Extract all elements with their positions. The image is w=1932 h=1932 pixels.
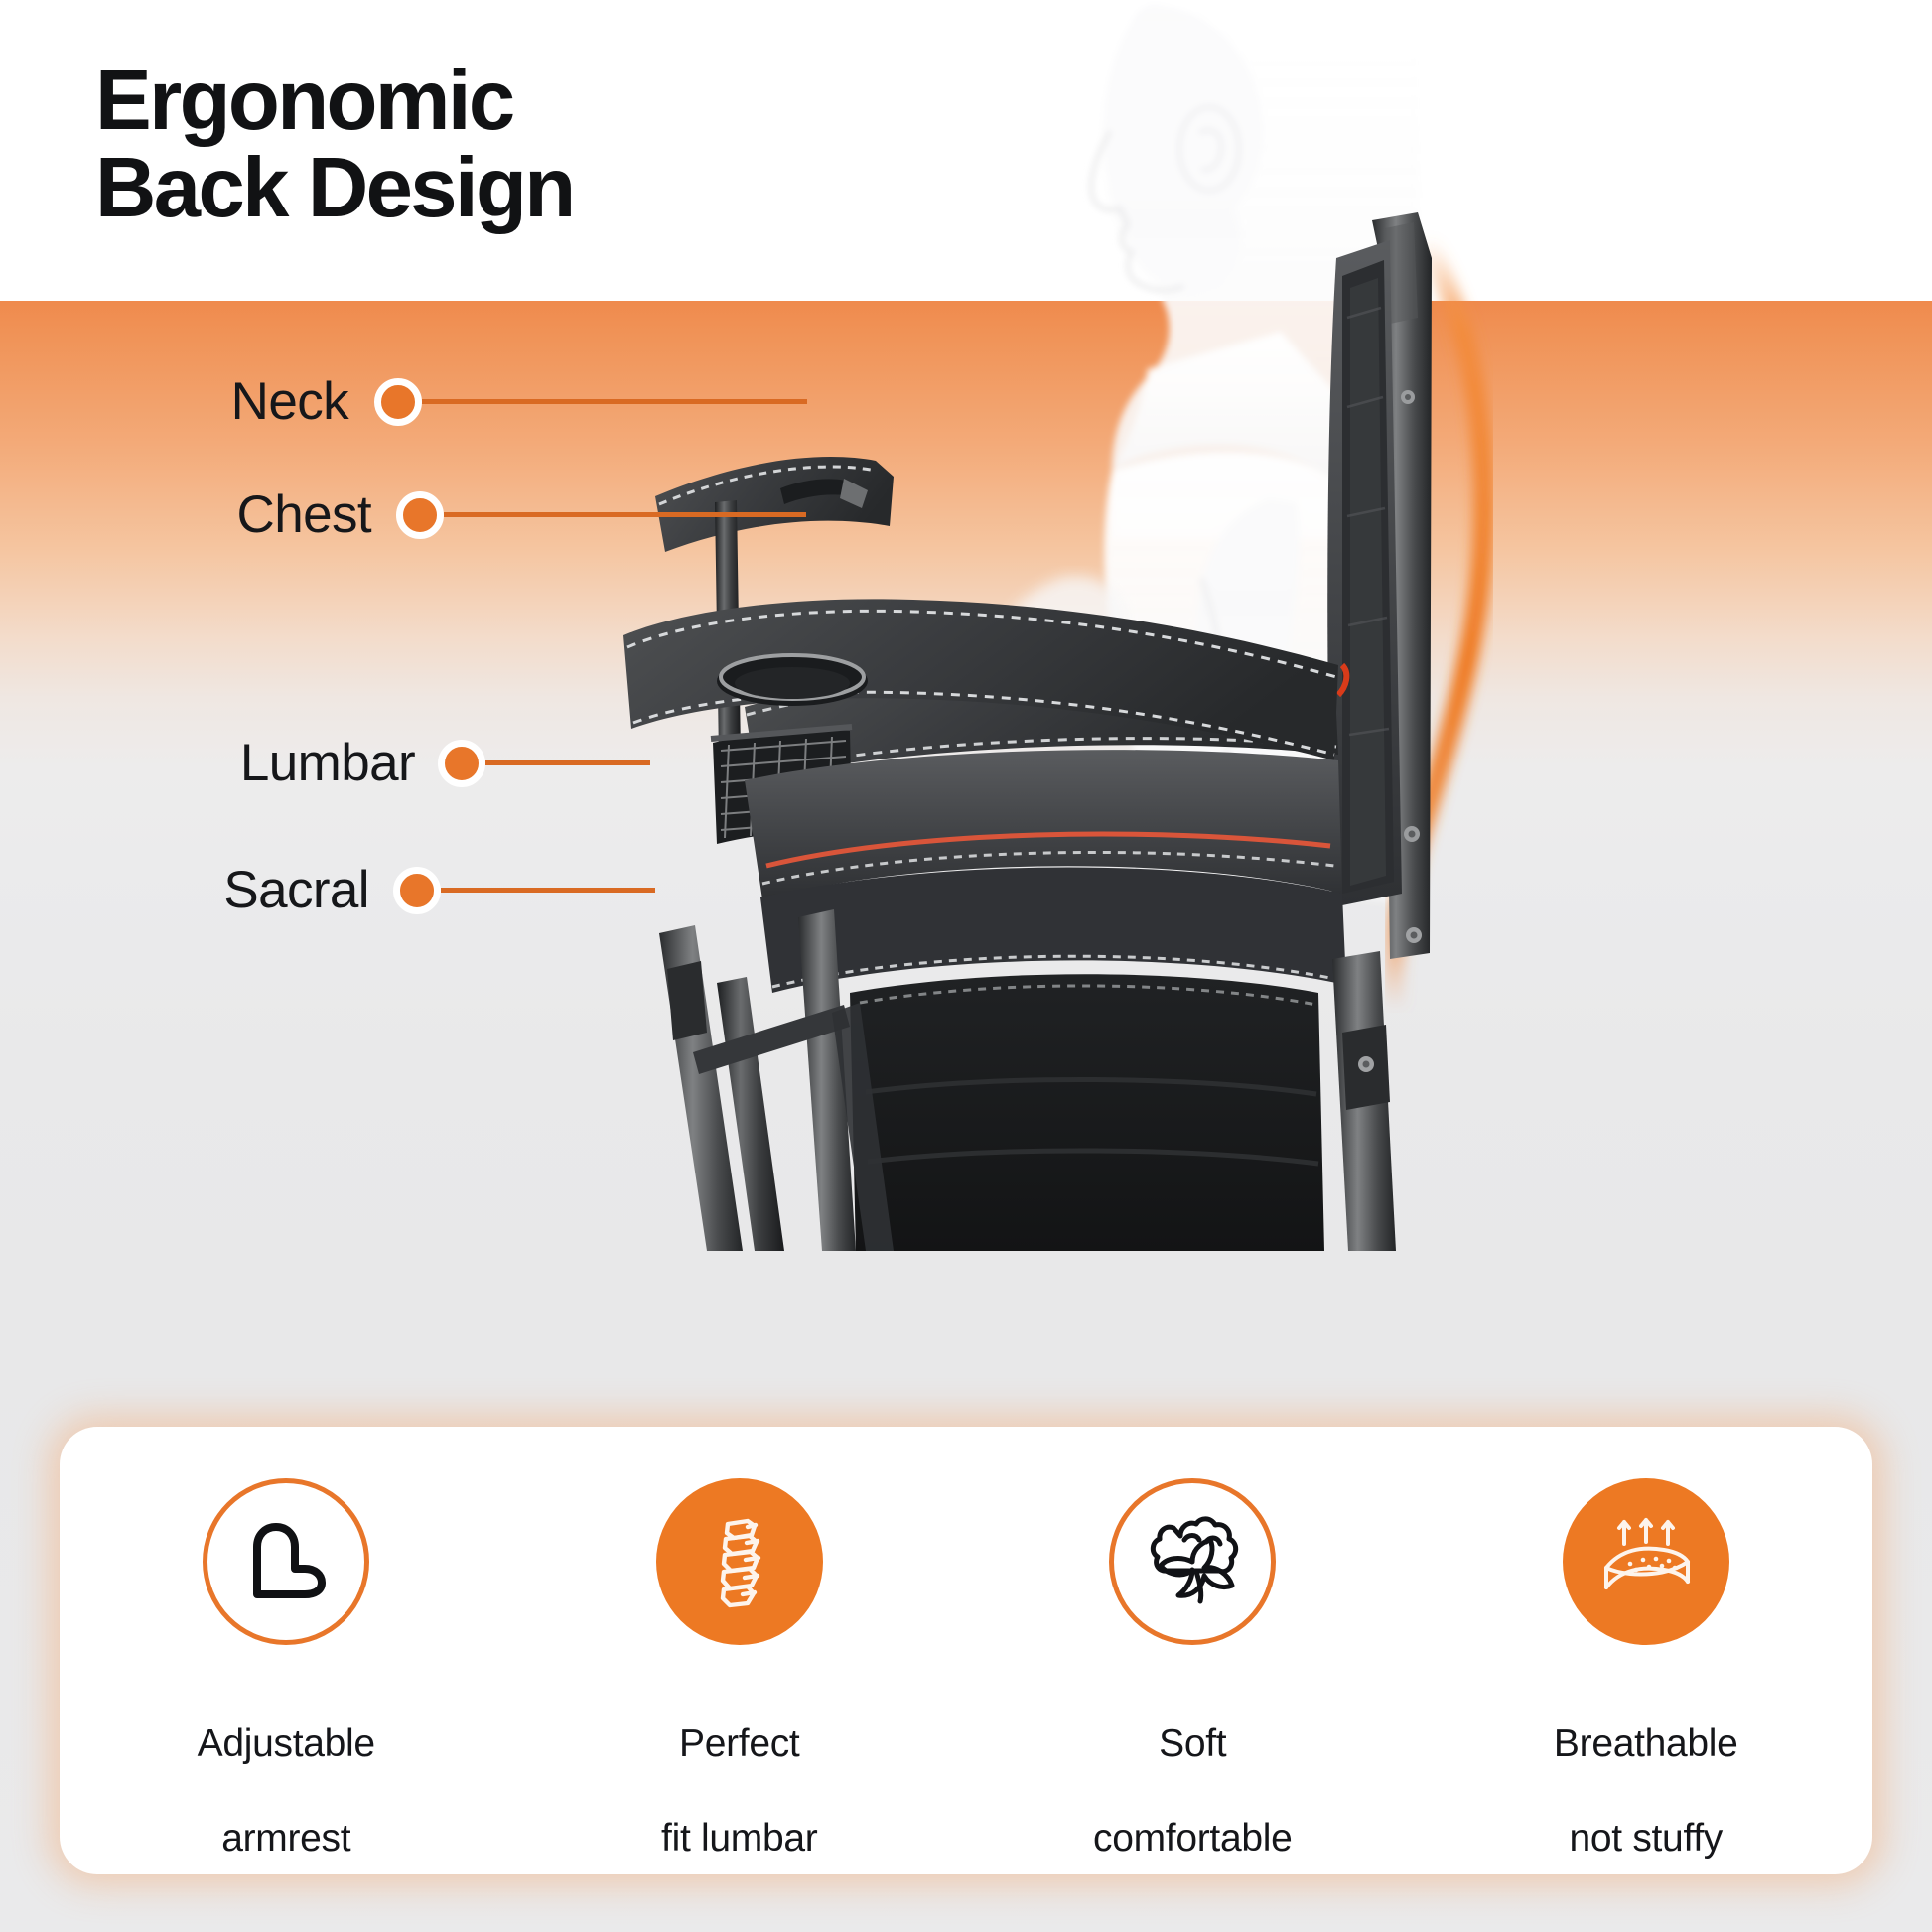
callout-dot-neck [374, 378, 422, 426]
spine-icon [686, 1508, 793, 1615]
callout-label-neck: Neck [195, 371, 348, 432]
feature-highlights-card: Adjustable armrest Perfect [60, 1427, 1872, 1874]
callout-dot-sacral [393, 867, 441, 914]
callout-lumbar[interactable]: Lumbar [195, 733, 650, 793]
callout-chest[interactable]: Chest [195, 484, 806, 545]
feature-perfect-fit-lumbar[interactable]: Perfect fit lumbar [551, 1478, 928, 1862]
feature-label-armrest: Adjustable armrest [198, 1673, 375, 1862]
feature-label-armrest-line1: Adjustable [198, 1723, 375, 1765]
page-title: Ergonomic Back Design [95, 58, 574, 231]
feature-icon-circle-lumbar [656, 1478, 823, 1645]
callout-dot-lumbar [438, 740, 485, 787]
feature-label-lumbar-line2: fit lumbar [661, 1817, 817, 1860]
feature-label-soft: Soft comfortable [1093, 1673, 1292, 1862]
cotton-icon [1137, 1506, 1248, 1617]
callout-neck[interactable]: Neck [195, 371, 807, 432]
feature-label-soft-line2: comfortable [1093, 1817, 1292, 1860]
feature-label-breathable-line1: Breathable [1554, 1723, 1738, 1765]
breathable-icon [1590, 1506, 1702, 1617]
callout-line-sacral [441, 888, 655, 893]
callout-dot-chest [396, 491, 444, 539]
feature-label-lumbar-line1: Perfect [679, 1723, 799, 1765]
feature-icon-circle-armrest [203, 1478, 369, 1645]
feature-label-lumbar: Perfect fit lumbar [661, 1673, 817, 1862]
infographic-page: Neck Chest Lumbar Sacral Ergonomic Back … [0, 0, 1932, 1932]
armrest-icon [231, 1507, 341, 1616]
feature-label-soft-line1: Soft [1159, 1723, 1226, 1765]
callout-sacral[interactable]: Sacral [195, 860, 655, 920]
callout-line-chest [444, 512, 806, 517]
feature-adjustable-armrest[interactable]: Adjustable armrest [97, 1478, 475, 1862]
feature-label-breathable: Breathable not stuffy [1554, 1673, 1738, 1862]
callout-label-lumbar: Lumbar [195, 733, 415, 793]
feature-soft-comfortable[interactable]: Soft comfortable [1004, 1478, 1381, 1862]
callout-line-lumbar [485, 760, 650, 765]
callout-line-neck [422, 399, 807, 404]
feature-icon-circle-breathable [1563, 1478, 1729, 1645]
feature-label-armrest-line2: armrest [221, 1817, 350, 1860]
feature-label-breathable-line2: not stuffy [1569, 1817, 1723, 1860]
callout-label-sacral: Sacral [195, 860, 369, 920]
feature-icon-circle-cotton [1109, 1478, 1276, 1645]
callout-label-chest: Chest [195, 484, 371, 545]
feature-breathable-not-stuffy[interactable]: Breathable not stuffy [1457, 1478, 1835, 1862]
